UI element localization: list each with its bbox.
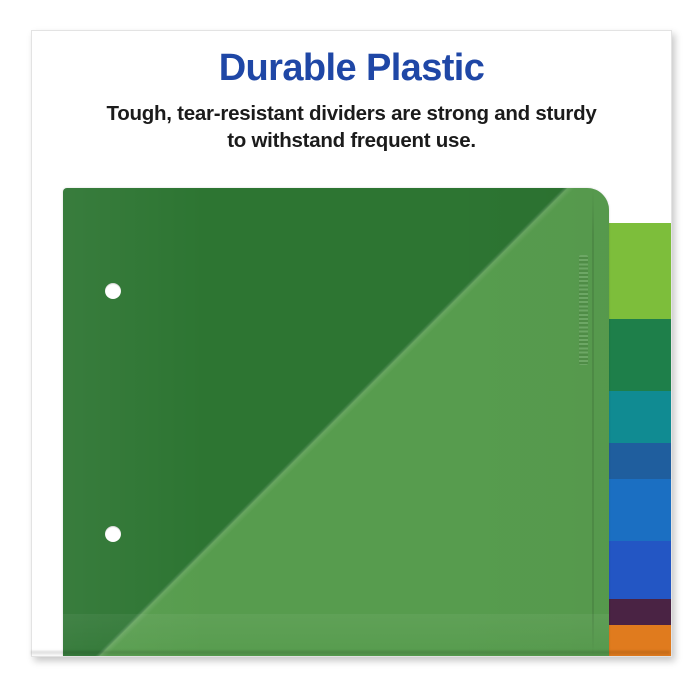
product-image-stage: Durable Plastic Tough, tear-resistant di… [0, 0, 700, 700]
reinforced-rib-strip [579, 255, 588, 365]
divider-tab-stack [601, 223, 671, 656]
tab-blue [601, 479, 671, 541]
tab-blue-steel [601, 443, 671, 479]
tab-royal-blue [601, 541, 671, 599]
subtitle-line-1: Tough, tear-resistant dividers are stron… [106, 102, 596, 125]
pocket-fold-edge [63, 188, 609, 656]
subtitle: Tough, tear-resistant dividers are stron… [72, 100, 632, 155]
page-title: Durable Plastic [32, 47, 671, 91]
subtitle-line-2: to withstand frequent use. [227, 129, 476, 152]
product-card: Durable Plastic Tough, tear-resistant di… [31, 30, 672, 657]
sheet-fold-crease [592, 188, 594, 656]
tab-lime [601, 223, 671, 319]
card-drop-shadow [31, 651, 670, 656]
punch-hole-bottom [105, 526, 121, 542]
tab-plum [601, 599, 671, 625]
tab-green [601, 319, 671, 391]
sheet-lower-band [63, 614, 609, 656]
green-divider-sheet [63, 188, 609, 656]
copy-block: Durable Plastic Tough, tear-resistant di… [32, 47, 671, 154]
tab-teal [601, 391, 671, 443]
punch-hole-top [105, 283, 121, 299]
